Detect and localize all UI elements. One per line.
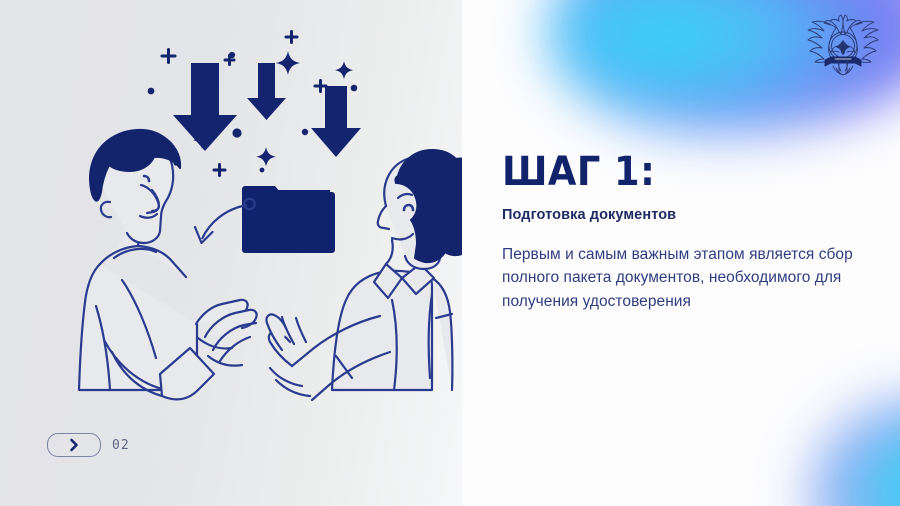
document-folder [242,186,335,253]
page-subtitle: Подготовка документов [502,207,854,223]
next-slide-button[interactable] [47,433,101,457]
decoration-plus-marks [162,32,326,176]
double-headed-eagle-emblem [805,10,881,82]
page-title: ШАГ 1: [502,152,826,193]
person-left-short-hair [79,130,257,399]
gradient-blob-bottom-right [806,396,900,506]
down-arrow-medium [311,86,361,157]
two-people-exchanging-documents-illustration [0,0,462,506]
page-indicator[interactable]: 02 [47,433,130,457]
down-arrow-small [247,63,286,120]
page-number: 02 [112,438,130,453]
chevron-right-icon [66,437,82,453]
body-paragraph: Первым и самым важным этапом является сб… [502,243,854,314]
down-arrow-large [173,63,237,151]
slide: 02 ШАГ 1: Подготовка документов Первым и… [0,0,900,506]
illustration-panel [0,0,462,506]
person-right-curly-hair [266,150,462,400]
content-column: ШАГ 1: Подготовка документов Первым и са… [502,152,854,313]
